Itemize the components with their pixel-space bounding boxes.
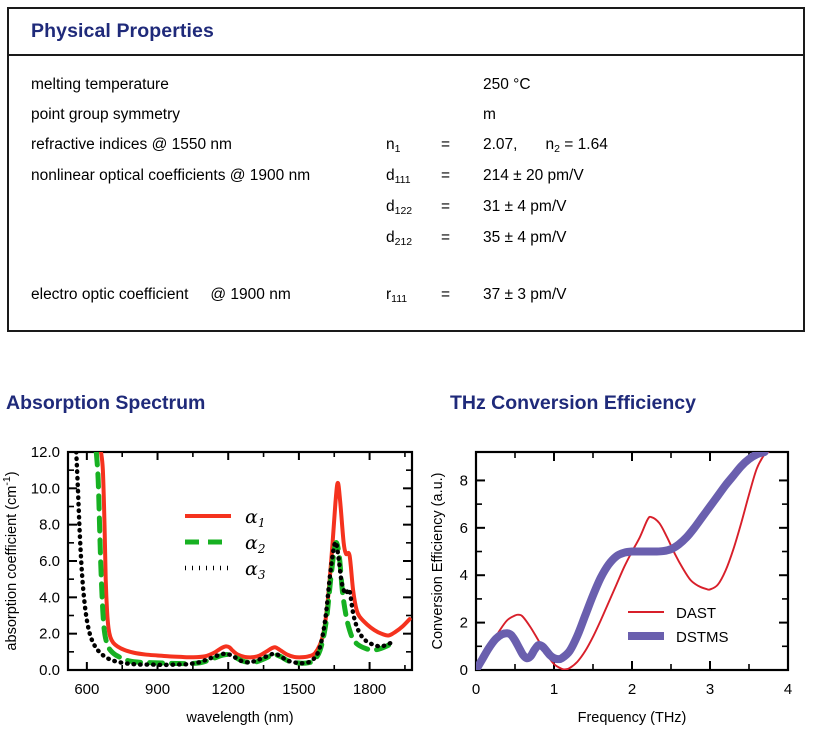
y-tick-label: 8 xyxy=(460,472,468,489)
property-label-condition: @ 1900 nm xyxy=(210,280,290,310)
property-symbol: n1 xyxy=(386,130,441,161)
absorption-spectrum-title: Absorption Spectrum xyxy=(6,392,205,415)
symbol-base: d xyxy=(386,198,395,215)
symbol-subscript: 212 xyxy=(395,236,413,248)
x-tick-label: 1500 xyxy=(282,681,315,698)
symbol-base: d xyxy=(386,229,395,246)
property-symbol: r111 xyxy=(386,280,441,311)
y-tick-label: 2 xyxy=(460,615,468,632)
x-tick-label: 3 xyxy=(706,681,714,698)
x-tick-label: 900 xyxy=(145,681,170,698)
physical-properties-table: Physical Properties melting temperature … xyxy=(7,7,805,332)
table-row: refractive indices @ 1550 nm n1 = 2.07,n… xyxy=(31,130,803,161)
properties-table-body: melting temperature 250 °C point group s… xyxy=(9,56,803,311)
y-axis-label: absorption coefficient (cm-1) xyxy=(1,471,20,650)
property-equals: = xyxy=(441,192,483,222)
symbol-base: d xyxy=(386,167,395,184)
table-row: x d212 = 35 ± 4 pm/V xyxy=(31,223,803,254)
legend-label-DAST: DAST xyxy=(676,605,716,622)
property-label: melting temperature xyxy=(31,70,386,100)
property-value: 250 °C xyxy=(483,70,531,100)
symbol-subscript: 1 xyxy=(395,143,401,155)
legend-label-alpha_3: α3 xyxy=(245,558,266,582)
y-tick-label: 6 xyxy=(460,520,468,537)
property-value: 31 ± 4 pm/V xyxy=(483,192,566,222)
symbol-subscript: 122 xyxy=(395,205,413,217)
table-row: electro optic coefficient@ 1900 nm r111 … xyxy=(31,280,803,311)
property-label: electro optic coefficient@ 1900 nm xyxy=(31,280,386,310)
table-row: x d122 = 31 ± 4 pm/V xyxy=(31,192,803,223)
property-value: 2.07,n2 = 1.64 xyxy=(483,130,608,161)
property-symbol: d122 xyxy=(386,192,441,223)
property-label: nonlinear optical coefficients @ 1900 nm xyxy=(31,161,386,191)
table-row: point group symmetry m xyxy=(31,100,803,130)
y-tick-label: 6.0 xyxy=(39,553,60,570)
y-tick-label: 4 xyxy=(460,567,468,584)
table-row: nonlinear optical coefficients @ 1900 nm… xyxy=(31,161,803,192)
legend-label-alpha_2: α2 xyxy=(245,532,265,556)
refractive-index-n2: n2 = 1.64 xyxy=(545,136,607,153)
y-tick-label: 0.0 xyxy=(39,662,60,679)
page-title: Physical Properties xyxy=(31,20,214,43)
absorption-spectrum-chart: 6009001200150018000.02.04.06.08.010.012.… xyxy=(0,440,420,740)
x-axis-label: wavelength (nm) xyxy=(185,710,293,726)
symbol-subscript: 111 xyxy=(395,174,411,186)
refractive-index-n1: 2.07, xyxy=(483,136,517,153)
x-tick-label: 1800 xyxy=(353,681,386,698)
series-alpha_3 xyxy=(76,452,394,665)
y-tick-label: 0 xyxy=(460,662,468,679)
x-tick-label: 1 xyxy=(550,681,558,698)
property-value: 35 ± 4 pm/V xyxy=(483,223,566,253)
x-tick-label: 0 xyxy=(472,681,480,698)
symbol-subscript: 111 xyxy=(391,293,407,305)
y-axis-label: Conversion Efficiency (a.u.) xyxy=(430,472,446,649)
property-equals: = xyxy=(441,130,483,160)
property-equals: = xyxy=(441,161,483,191)
property-value: m xyxy=(483,100,496,130)
property-symbol: d111 xyxy=(386,161,441,192)
property-label: refractive indices @ 1550 nm xyxy=(31,130,386,160)
property-value: 37 ± 3 pm/V xyxy=(483,280,566,310)
absorption-svg: 6009001200150018000.02.04.06.08.010.012.… xyxy=(0,440,420,740)
property-label: point group symmetry xyxy=(31,100,386,130)
x-tick-label: 2 xyxy=(628,681,636,698)
thz-conversion-efficiency-title: THz Conversion Efficiency xyxy=(450,392,696,415)
y-tick-label: 2.0 xyxy=(39,626,60,643)
thz-svg: 0123402468Frequency (THz)Conversion Effi… xyxy=(428,440,817,740)
legend-label-DSTMS: DSTMS xyxy=(676,629,729,646)
property-symbol: d212 xyxy=(386,223,441,254)
row-spacer xyxy=(31,254,803,280)
y-tick-label: 10.0 xyxy=(31,480,60,497)
y-tick-label: 8.0 xyxy=(39,517,60,534)
property-equals: = xyxy=(441,280,483,310)
x-tick-label: 1200 xyxy=(212,681,245,698)
symbol-base: n xyxy=(386,136,395,153)
x-tick-label: 4 xyxy=(784,681,792,698)
y-tick-label: 4.0 xyxy=(39,589,60,606)
series-alpha_1 xyxy=(101,452,410,657)
properties-table-header: Physical Properties xyxy=(9,9,803,56)
y-tick-label: 12.0 xyxy=(31,444,60,461)
property-value: 214 ± 20 pm/V xyxy=(483,161,584,191)
x-axis-label: Frequency (THz) xyxy=(578,710,687,726)
legend-label-alpha_1: α1 xyxy=(245,506,265,530)
property-equals: = xyxy=(441,223,483,253)
thz-conversion-chart: 0123402468Frequency (THz)Conversion Effi… xyxy=(428,440,817,740)
table-row: melting temperature 250 °C xyxy=(31,70,803,100)
x-tick-label: 600 xyxy=(74,681,99,698)
